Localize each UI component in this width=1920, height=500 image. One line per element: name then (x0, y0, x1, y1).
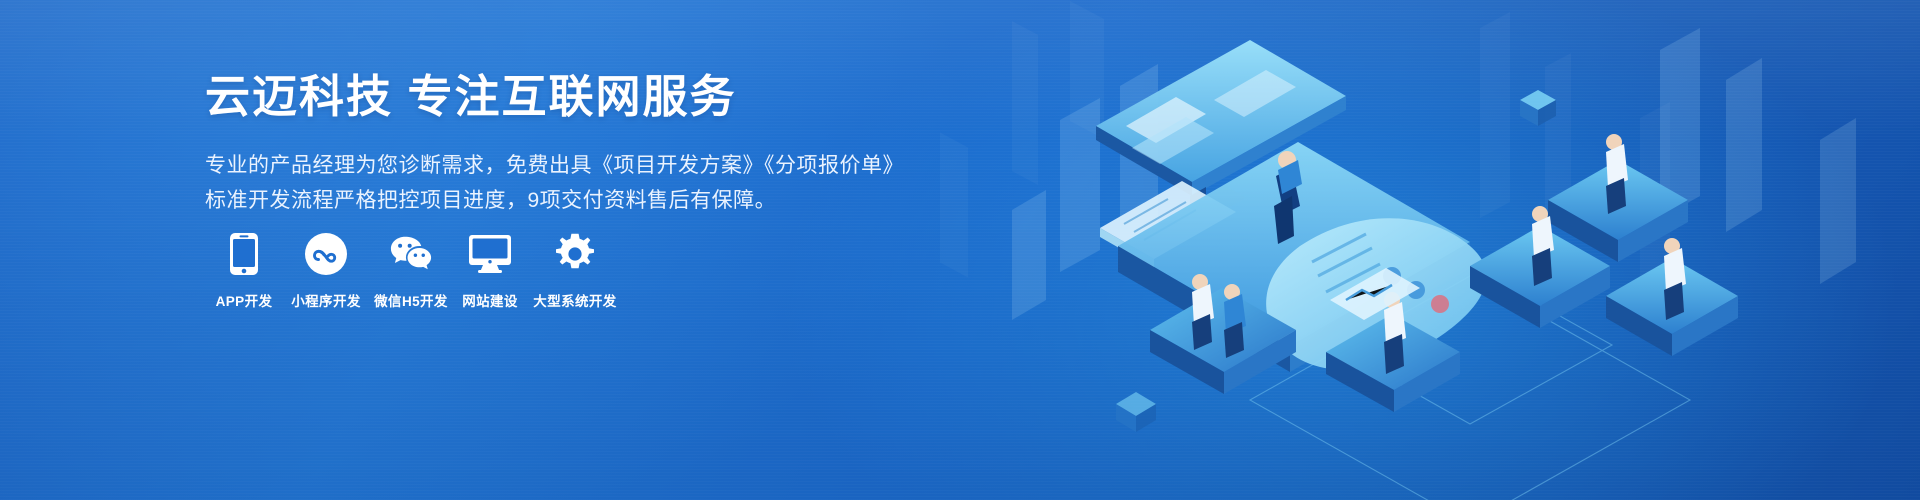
service-item-wechat-h5[interactable]: 微信H5开发 (369, 232, 453, 310)
illustration-person-2 (1606, 134, 1628, 214)
monitor-icon (468, 232, 512, 276)
page-title: 云迈科技 专注互联网服务 (205, 70, 985, 123)
service-label: 网站建设 (462, 290, 518, 310)
service-label: 微信H5开发 (374, 290, 448, 310)
service-list: APP开发 小程序开发 (205, 232, 623, 310)
hero-copy: 云迈科技 专注互联网服务 专业的产品经理为您诊断需求，免费出具《项目开发方案》《… (205, 70, 985, 218)
mini-program-icon (304, 232, 348, 276)
subtitle-line-2: 标准开发流程严格把控项目进度，9项交付资料售后有保障。 (205, 184, 985, 219)
isometric-illustration (1000, 0, 1920, 500)
service-item-mini-program[interactable]: 小程序开发 (283, 232, 369, 310)
service-item-website[interactable]: 网站建设 (453, 232, 527, 310)
subtitle-line-1: 专业的产品经理为您诊断需求，免费出具《项目开发方案》《分项报价单》 (205, 154, 904, 177)
illustration-person-4 (1664, 238, 1686, 320)
service-label: 小程序开发 (291, 290, 361, 310)
wechat-icon (389, 232, 433, 276)
gear-icon (553, 232, 597, 276)
service-label: 大型系统开发 (533, 290, 616, 310)
hero-banner: 云迈科技 专注互联网服务 专业的产品经理为您诊断需求，免费出具《项目开发方案》《… (0, 0, 1920, 500)
mobile-phone-icon (222, 232, 266, 276)
service-item-large-system[interactable]: 大型系统开发 (527, 232, 623, 310)
hero-subtitle: 专业的产品经理为您诊断需求，免费出具《项目开发方案》《分项报价单》 标准开发流程… (205, 149, 985, 218)
service-label: APP开发 (216, 290, 273, 310)
service-item-app[interactable]: APP开发 (205, 232, 283, 310)
